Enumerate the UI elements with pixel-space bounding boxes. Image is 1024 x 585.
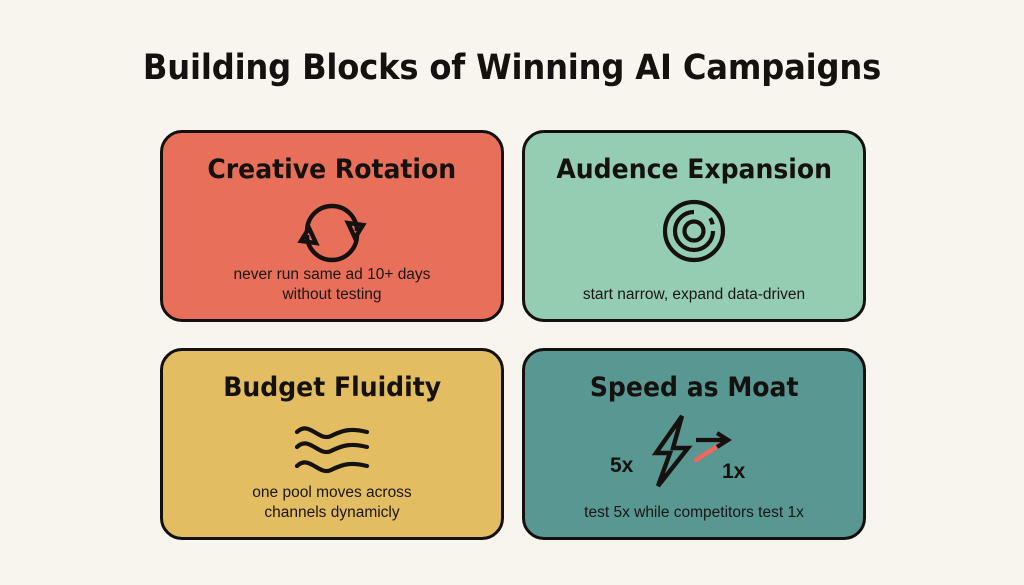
card-title-audience-expansion: Audence Expansion xyxy=(556,155,832,185)
infographic-canvas: Building Blocks of Winning AI Campaigns … xyxy=(0,0,1024,585)
card-grid: Creative Rotation never run same xyxy=(160,130,866,540)
caption-line-1: test 5x while competitors test 1x xyxy=(539,503,849,523)
page-title: Building Blocks of Winning AI Campaigns xyxy=(41,46,983,90)
rotation-arrows-icon xyxy=(293,195,371,267)
card-speed-as-moat[interactable]: Speed as Moat 5x 1x xyxy=(522,348,866,540)
caption-line-1: never run same ad 10+ days xyxy=(177,265,487,285)
caption-line-2: channels dynamicly xyxy=(177,503,487,523)
speed-label-slow: 1x xyxy=(722,460,745,484)
card-caption-creative-rotation: never run same ad 10+ days without testi… xyxy=(163,265,501,305)
card-title-budget-fluidity: Budget Fluidity xyxy=(223,373,441,403)
speed-icon-wrap: 5x 1x xyxy=(604,412,784,490)
card-caption-speed-as-moat: test 5x while competitors test 1x xyxy=(525,503,863,523)
caption-line-2: without testing xyxy=(177,285,487,305)
card-title-speed-as-moat: Speed as Moat xyxy=(590,373,799,403)
card-caption-audience-expansion: start narrow, expand data-driven xyxy=(525,285,863,305)
card-title-creative-rotation: Creative Rotation xyxy=(208,155,457,185)
card-creative-rotation[interactable]: Creative Rotation never run same xyxy=(160,130,504,322)
lightning-bolt-icon-group: 5x 1x xyxy=(604,413,784,485)
caption-line-1: start narrow, expand data-driven xyxy=(539,285,849,305)
card-budget-fluidity[interactable]: Budget Fluidity one pool moves across ch… xyxy=(160,348,504,540)
caption-line-1: one pool moves across xyxy=(177,483,487,503)
concentric-target-icon xyxy=(657,195,731,267)
wavy-lines-icon xyxy=(289,413,375,485)
card-audience-expansion[interactable]: Audence Expansion start n xyxy=(522,130,866,322)
card-caption-budget-fluidity: one pool moves across channels dynamicly xyxy=(163,483,501,523)
